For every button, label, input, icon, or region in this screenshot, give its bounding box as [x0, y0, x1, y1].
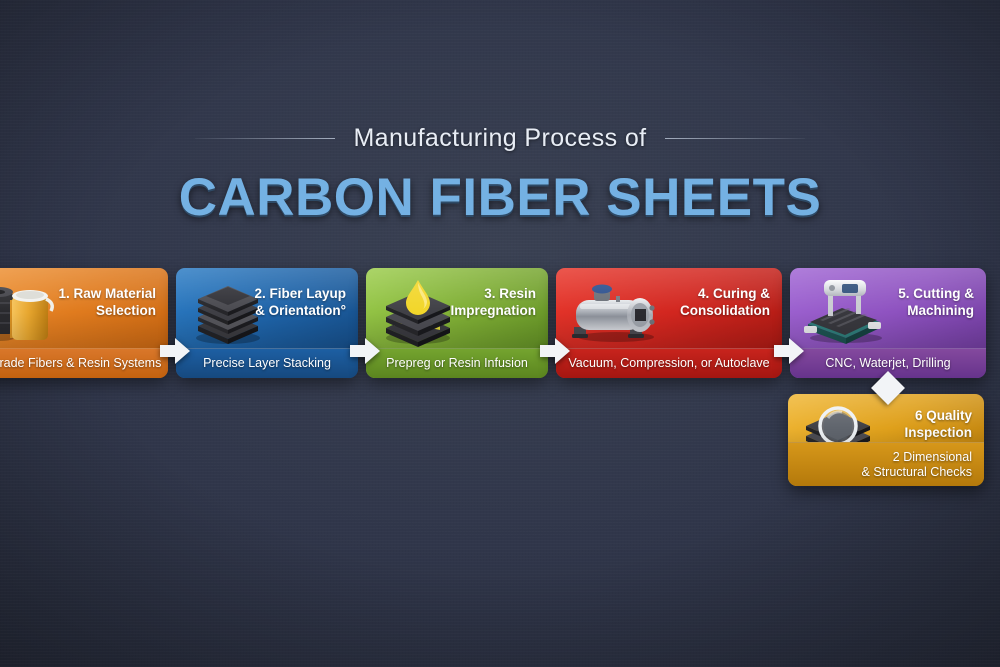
process-flow: 1. Raw MaterialSelection n-Grade Fibers …: [0, 0, 1000, 667]
eyebrow-text: Manufacturing Process of: [353, 124, 646, 153]
card-title: 5. Cutting &Machining: [856, 286, 974, 320]
card-title: 4. Curing &Consolidation: [640, 286, 770, 320]
main-title: CARBON FIBER SHEETS: [0, 167, 1000, 228]
step-card-resin-impregnation[interactable]: 3. ResinImpregnation Prepreg or Resin In…: [366, 268, 548, 378]
card-title: 3. ResinImpregnation: [418, 286, 536, 320]
card-caption: n-Grade Fibers & Resin Systems: [0, 348, 168, 378]
card-caption: Vacuum, Compression, or Autoclave: [556, 348, 782, 378]
step-card-curing-consolidation[interactable]: 4. Curing &Consolidation Vacuum, Compres…: [556, 268, 782, 378]
infographic-canvas: Manufacturing Process of CARBON FIBER SH…: [0, 0, 1000, 667]
card-caption: 2 Dimensional& Structural Checks: [788, 442, 984, 486]
card-caption-text: Vacuum, Compression, or Autoclave: [562, 356, 775, 370]
arrow-right-icon-2: [350, 338, 380, 364]
page-title-block: Manufacturing Process of CARBON FIBER SH…: [0, 124, 1000, 228]
arrow-right-icon-4: [774, 338, 804, 364]
card-body: 5. Cutting &Machining: [790, 268, 986, 348]
card-caption-text: Prepreg or Resin Infusion: [380, 356, 534, 370]
card-caption: Precise Layer Stacking: [176, 348, 358, 378]
rule-right: [665, 138, 805, 139]
eyebrow-row: Manufacturing Process of: [0, 124, 1000, 153]
card-body: 2. Fiber Layup& Orientation°: [176, 268, 358, 348]
card-caption: Prepreg or Resin Infusion: [366, 348, 548, 378]
card-body: 4. Curing &Consolidation: [556, 268, 782, 348]
card-title: 2. Fiber Layup& Orientation°: [228, 286, 346, 320]
arrow-right-icon-3: [540, 338, 570, 364]
rule-left: [195, 138, 335, 139]
card-caption-text: CNC, Waterjet, Drilling: [819, 356, 956, 370]
card-caption-text: Precise Layer Stacking: [197, 356, 337, 370]
card-body: 1. Raw MaterialSelection: [0, 268, 168, 348]
card-title: 1. Raw MaterialSelection: [38, 286, 156, 320]
step-card-quality-inspection[interactable]: 6 QualityInspection 2 Dimensional& Struc…: [788, 394, 984, 486]
card-body: 3. ResinImpregnation: [366, 268, 548, 348]
card-title: 6 QualityInspection: [854, 408, 972, 442]
step-card-cutting-machining[interactable]: 5. Cutting &Machining CNC, Waterjet, Dri…: [790, 268, 986, 378]
step-card-fiber-layup-orientation[interactable]: 2. Fiber Layup& Orientation° Precise Lay…: [176, 268, 358, 378]
card-caption-text: n-Grade Fibers & Resin Systems: [0, 356, 167, 370]
step-card-raw-material-selection[interactable]: 1. Raw MaterialSelection n-Grade Fibers …: [0, 268, 168, 378]
arrow-right-icon-1: [160, 338, 190, 364]
card-caption-text: 2 Dimensional& Structural Checks: [856, 450, 984, 479]
